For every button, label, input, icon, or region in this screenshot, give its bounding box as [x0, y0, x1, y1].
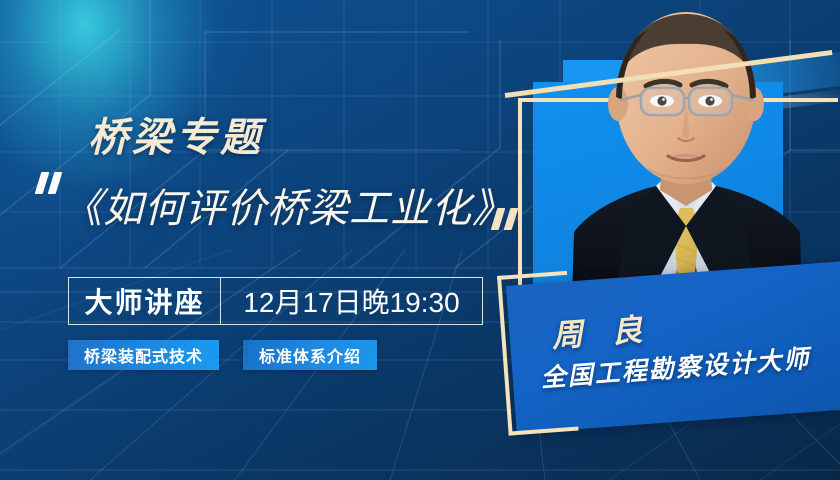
- lecture-info-box: 大师讲座 12月17日晚19:30: [68, 277, 483, 325]
- lecture-subtitle: 《如何评价桥梁工业化》: [62, 176, 513, 234]
- lecture-datetime: 12月17日晚19:30: [221, 278, 482, 324]
- topic-tag[interactable]: 桥梁装配式技术: [68, 340, 219, 370]
- speaker-portrait-illustration: [552, 0, 820, 300]
- page-title: 桥梁专题: [88, 105, 264, 163]
- avatar: [552, 0, 820, 300]
- topic-tag[interactable]: 标准体系介绍: [243, 340, 377, 370]
- topic-tag-list: 桥梁装配式技术 标准体系介绍: [68, 340, 377, 370]
- speaker-name-block: 周 良 全国工程勘察设计大师: [550, 292, 811, 394]
- lecture-type-label: 大师讲座: [69, 278, 221, 324]
- poster-canvas: 桥梁专题 《如何评价桥梁工业化》 大师讲座 12月17日晚19:30 桥梁装配式…: [0, 0, 840, 480]
- decor-name-gold-frame: [497, 271, 579, 436]
